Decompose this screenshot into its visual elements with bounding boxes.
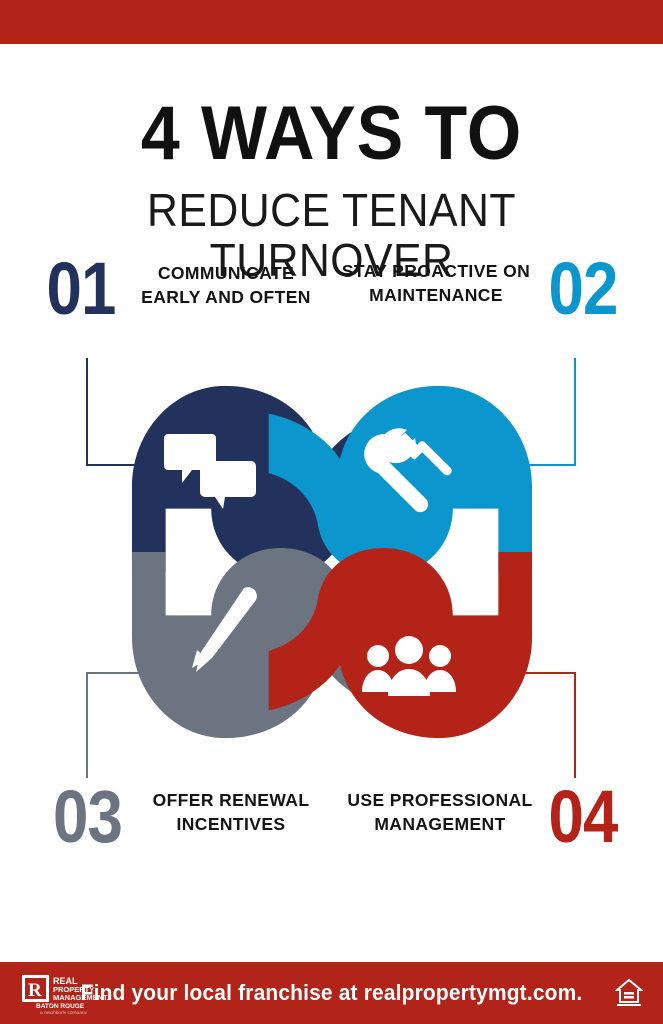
step-label-03: OFFER RENEWAL INCENTIVES bbox=[136, 788, 326, 836]
step-number-03: 03 bbox=[47, 780, 129, 854]
step-label-01: COMMUNICATE EARLY AND OFTEN bbox=[126, 261, 326, 309]
top-banner bbox=[0, 0, 663, 44]
footer: R REAL PROPERTY MANAGEMENT. BATON ROUGE … bbox=[0, 962, 663, 1024]
step-label-02: STAY PROACTIVE ON MAINTENANCE bbox=[336, 259, 536, 307]
step-number-02: 02 bbox=[544, 252, 621, 326]
page-title: 4 WAYS TO bbox=[27, 95, 637, 173]
step-number-04: 04 bbox=[541, 780, 625, 854]
step-number-01: 01 bbox=[42, 252, 119, 326]
step-label-04: USE PROFESSIONAL MANAGEMENT bbox=[340, 788, 540, 836]
footer-cta-text: Find your local franchise at realpropert… bbox=[17, 962, 647, 1024]
equal-housing-opportunity-icon bbox=[615, 976, 643, 1008]
infographic-poster: 4 WAYS TO REDUCE TENANT TURNOVER 01 02 0… bbox=[0, 0, 663, 1024]
cycle-diagram bbox=[122, 372, 542, 752]
